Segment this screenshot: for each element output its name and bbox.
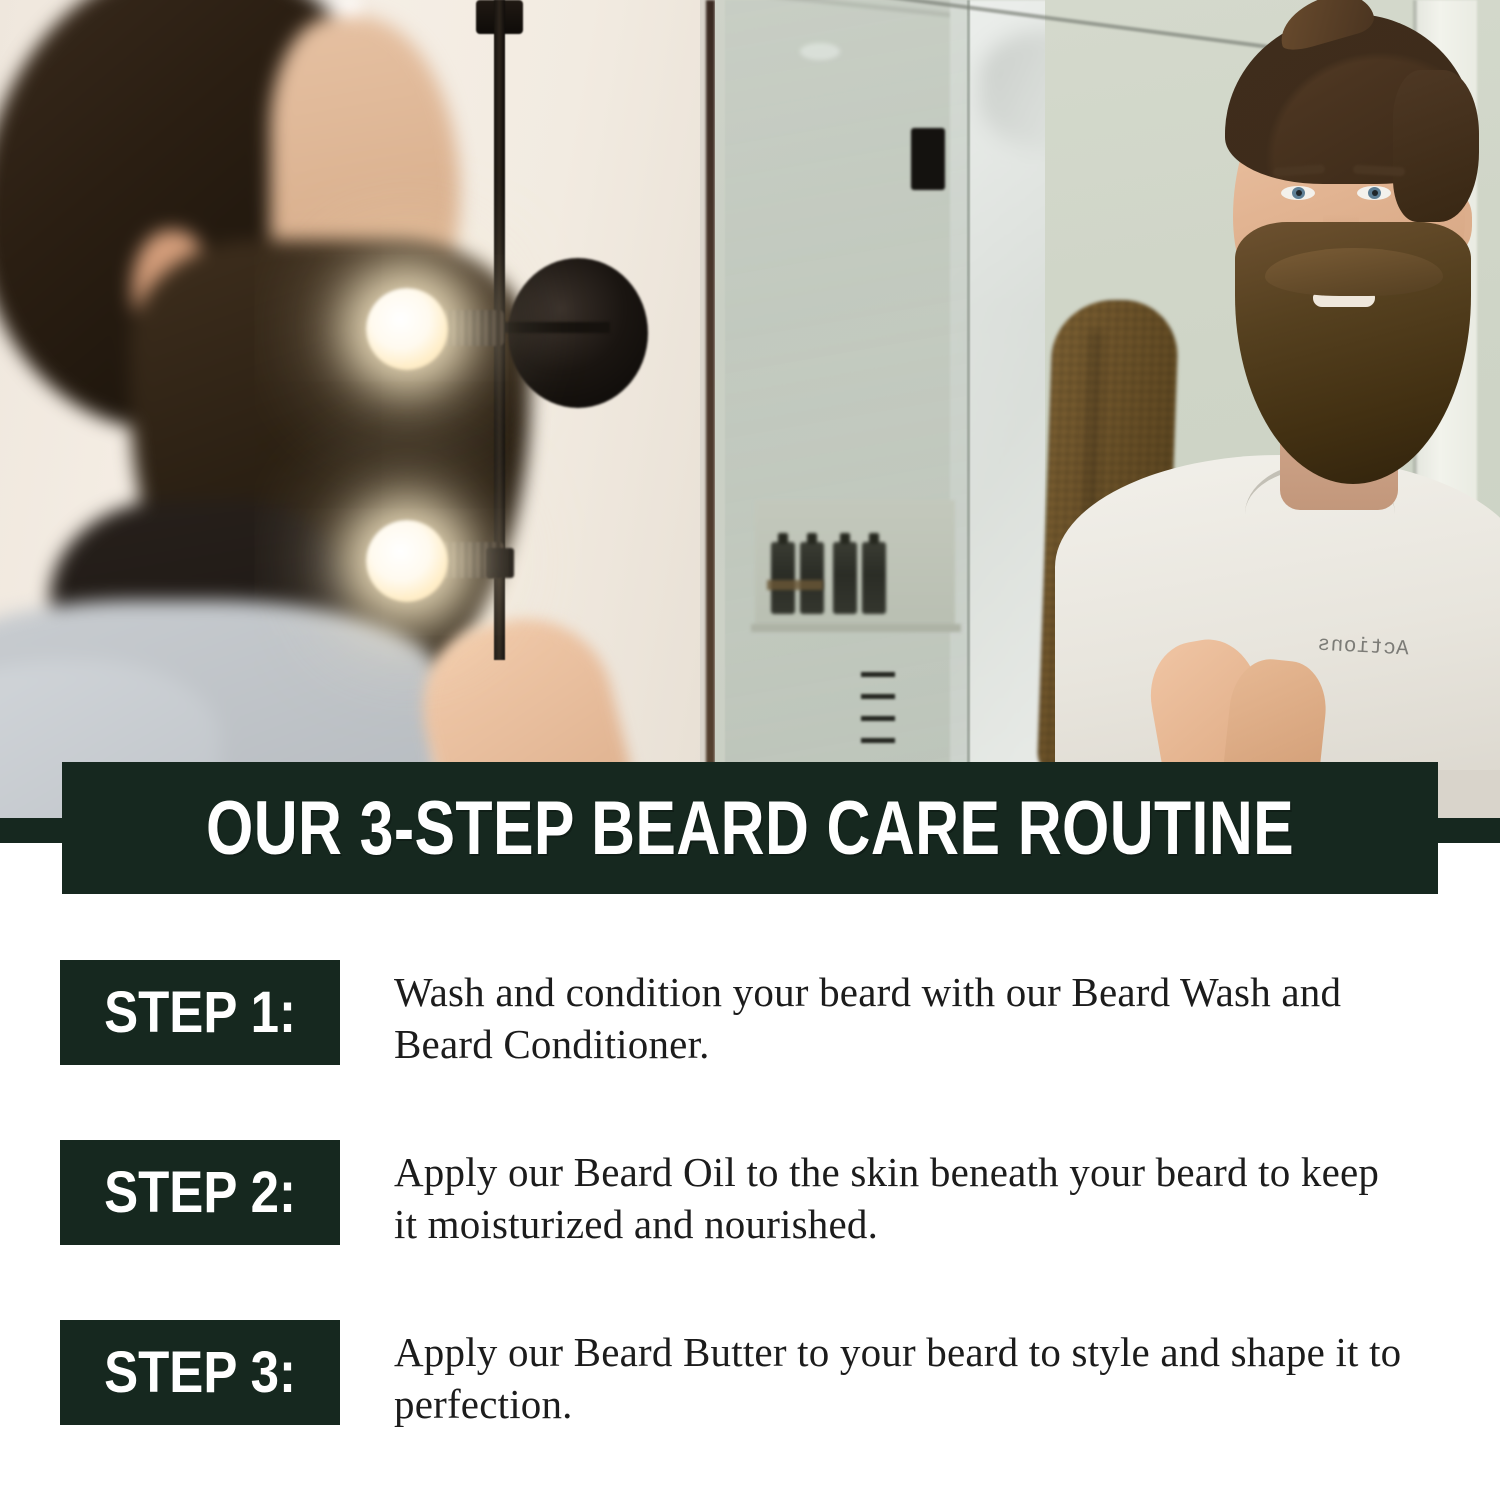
step-badge-1: STEP 1: xyxy=(60,960,340,1065)
light-bulb-upper xyxy=(366,288,448,370)
list-item: STEP 2: Apply our Beard Oil to the skin … xyxy=(60,1140,1460,1251)
step-text-3: Apply our Beard Butter to your beard to … xyxy=(394,1320,1404,1431)
hero-photo: Actions xyxy=(0,0,1500,825)
step-badge-label-2: STEP 2: xyxy=(104,1159,296,1226)
steps-list: STEP 1: Wash and condition your beard wi… xyxy=(0,940,1500,1480)
reflected-eye-left xyxy=(1281,186,1315,200)
banner-strip-left xyxy=(0,818,64,843)
step-text-2: Apply our Beard Oil to the skin beneath … xyxy=(394,1140,1404,1251)
product-bottle xyxy=(833,542,857,614)
page-title: OUR 3-STEP BEARD CARE ROUTINE xyxy=(206,785,1294,872)
banner-strip-right xyxy=(1436,818,1500,843)
reflected-man: Actions xyxy=(1095,0,1500,770)
product-bottle xyxy=(800,542,824,614)
sconce-backplate xyxy=(508,258,648,408)
step-badge-2: STEP 2: xyxy=(60,1140,340,1245)
step-badge-3: STEP 3: xyxy=(60,1320,340,1425)
shower-glass-panel xyxy=(725,0,970,770)
list-item: STEP 3: Apply our Beard Butter to your b… xyxy=(60,1320,1460,1431)
shower-niche-shelf xyxy=(751,624,961,632)
reflected-eye-right xyxy=(1357,186,1391,200)
infographic-canvas: Actions OUR xyxy=(0,0,1500,1500)
reflected-hair xyxy=(1225,14,1475,184)
product-bottle xyxy=(862,542,886,614)
bottle-label-band xyxy=(767,580,823,590)
shower-caddy xyxy=(861,672,895,744)
list-item: STEP 1: Wash and condition your beard wi… xyxy=(60,960,1460,1071)
wall-sconce xyxy=(0,0,706,825)
mirror-reflection-panel: Actions xyxy=(715,0,1500,770)
sconce-arm xyxy=(492,322,610,333)
step-text-1: Wash and condition your beard with our B… xyxy=(394,960,1404,1071)
step-badge-label-3: STEP 3: xyxy=(104,1339,296,1406)
sconce-socket-upper xyxy=(440,310,504,346)
step-badge-label-1: STEP 1: xyxy=(104,979,296,1046)
light-bulb-lower xyxy=(366,520,448,602)
product-bottle xyxy=(771,542,795,614)
sconce-clip xyxy=(486,548,514,578)
tshirt-text: Actions xyxy=(1316,634,1409,662)
headline-banner: OUR 3-STEP BEARD CARE ROUTINE xyxy=(62,762,1438,894)
shower-door-hinge xyxy=(911,128,945,190)
mirror-frame-edge xyxy=(706,0,715,770)
